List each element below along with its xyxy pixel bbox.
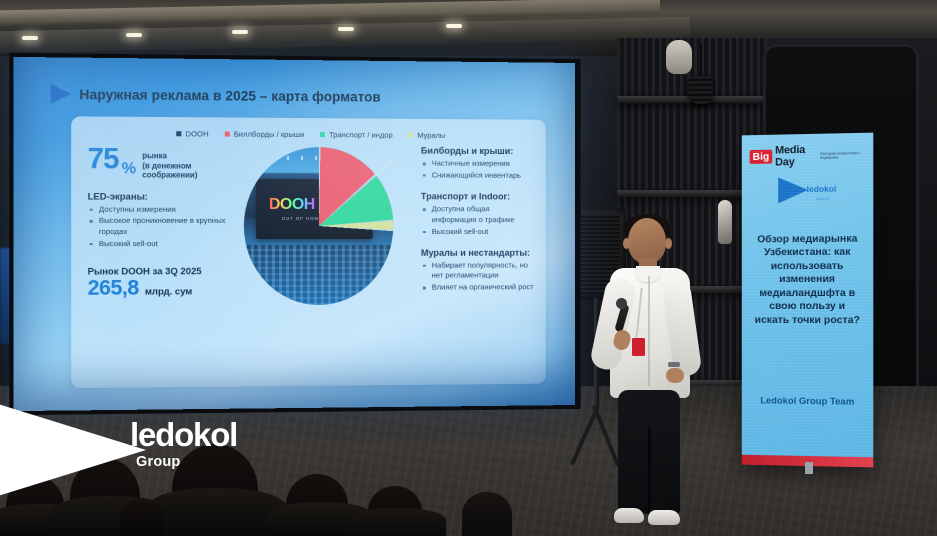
gesturing-hand	[666, 368, 684, 383]
percent-value: 75	[88, 146, 119, 173]
slide-content-card: DOOH Биллборды / крыши Транспорт / индор…	[71, 116, 546, 388]
microphone-head	[616, 298, 627, 309]
market-share-stat: 75 % рынка (в денежном соображении)	[88, 146, 236, 180]
projection-screen: Наружная реклама в 2025 – карта форматов…	[13, 57, 574, 411]
slide-title-row: Наружная реклама в 2025 – карта форматов	[75, 84, 553, 108]
triangle-logo-icon	[0, 404, 146, 496]
triangle-bullet-icon	[51, 84, 72, 104]
watermark-word: ledokol	[130, 418, 237, 451]
transport-bullets: Доступна общая информация о трафике Высо…	[421, 205, 534, 237]
banner-base	[805, 462, 813, 474]
dooh-market-unit: млрд. сум	[145, 285, 192, 298]
shirt-placket	[648, 276, 650, 386]
pie-slice-separators	[244, 147, 393, 306]
leg-separation	[648, 428, 651, 516]
legend-label: Биллборды / крыши	[234, 130, 304, 139]
right-column: Билборды и крыши: Частичные измерения Сн…	[415, 144, 534, 362]
list-item: Высокий sell-out	[88, 239, 236, 250]
legend-label: DOOH	[186, 129, 209, 138]
watermark-sub: Group	[136, 454, 181, 470]
chart-legend: DOOH Биллборды / крыши Транспорт / индор…	[83, 129, 534, 141]
conference-photo-scene: Наружная реклама в 2025 – карта форматов…	[0, 0, 937, 536]
sneaker	[614, 508, 644, 523]
list-item: Набирает популярность, но нет регламента…	[421, 261, 534, 282]
decor-vase	[718, 200, 732, 244]
list-item: Высокое проникновение в крупных городах	[88, 216, 236, 237]
downlight-icon	[126, 33, 142, 37]
dooh-market-heading: Рынок DOOH за 3Q 2025	[88, 265, 236, 276]
murals-bullets: Набирает популярность, но нет регламента…	[421, 261, 534, 294]
list-item: Частичные измерения	[421, 159, 534, 170]
percent-label-line3: соображении)	[142, 170, 197, 179]
slide-title: Наружная реклама в 2025 – карта форматов	[79, 87, 380, 105]
dooh-market-value: 265,8	[88, 277, 139, 298]
legend-item: DOOH	[176, 129, 208, 138]
percent-label-line2: (в денежном	[142, 161, 191, 170]
audience-head	[462, 492, 512, 536]
left-column: 75 % рынка (в денежном соображении) LED-…	[83, 142, 235, 365]
percent-sign: %	[122, 160, 137, 178]
downlight-icon	[338, 27, 354, 31]
list-item: Влияет на органический рост	[421, 283, 534, 294]
billboards-bullets: Частичные измерения Снижающийся инвентар…	[421, 159, 534, 181]
legend-swatch	[225, 132, 230, 137]
sneaker	[648, 510, 680, 525]
legend-swatch	[320, 132, 325, 137]
downlight-icon	[232, 30, 248, 34]
led-block-bullets: Доступны измерения Высокое проникновение…	[88, 204, 236, 249]
downlight-icon	[22, 36, 38, 40]
banner-footer: Ledokol Group Team	[742, 395, 874, 409]
pie-chart: DOOH OUT OF HOME	[244, 143, 405, 314]
list-item: Снижающийся инвентарь	[421, 170, 534, 181]
ledokol-watermark: ledokol Group	[0, 398, 290, 502]
legend-item: Транспорт / индор	[320, 130, 393, 139]
legend-item: Муралы	[408, 131, 445, 140]
audience-head	[120, 498, 164, 536]
dooh-market-value-row: 265,8 млрд. сум	[88, 277, 236, 299]
ear	[623, 238, 630, 249]
wristwatch	[668, 362, 680, 367]
legend-label: Транспорт / индор	[329, 130, 393, 139]
card-body: 75 % рынка (в денежном соображении) LED-…	[83, 142, 534, 365]
transport-heading: Транспорт и Indoor:	[421, 192, 534, 202]
decor-vase	[666, 40, 692, 74]
pendant-lamp-cord	[700, 44, 702, 78]
legend-label: Муралы	[417, 131, 445, 140]
billboards-heading: Билборды и крыши:	[421, 146, 534, 156]
percent-label-line1: рынка	[142, 151, 197, 161]
pie-chart-column: DOOH OUT OF HOME	[242, 143, 409, 364]
presentation-slide: Наружная реклама в 2025 – карта форматов…	[13, 57, 574, 411]
speaker-person	[592, 218, 704, 536]
led-block-heading: LED-экраны:	[88, 191, 236, 201]
legend-item: Биллборды / крыши	[225, 130, 304, 140]
rollup-banner: Big Media Day Ежегодная конференция о ме…	[742, 133, 874, 468]
murals-heading: Муралы и нестандарты:	[421, 248, 534, 258]
list-item: Высокий sell-out	[421, 227, 534, 237]
downlight-icon	[446, 24, 462, 28]
list-item: Доступна общая информация о трафике	[421, 205, 534, 226]
pendant-lamp-icon	[689, 76, 713, 104]
percent-label: рынка (в денежном соображении)	[142, 146, 197, 180]
legend-swatch	[408, 133, 413, 138]
ear	[665, 238, 672, 249]
audience-shoulders	[350, 508, 446, 536]
list-item: Доступны измерения	[88, 204, 236, 215]
legend-swatch	[176, 131, 181, 136]
conference-badge	[632, 338, 645, 356]
